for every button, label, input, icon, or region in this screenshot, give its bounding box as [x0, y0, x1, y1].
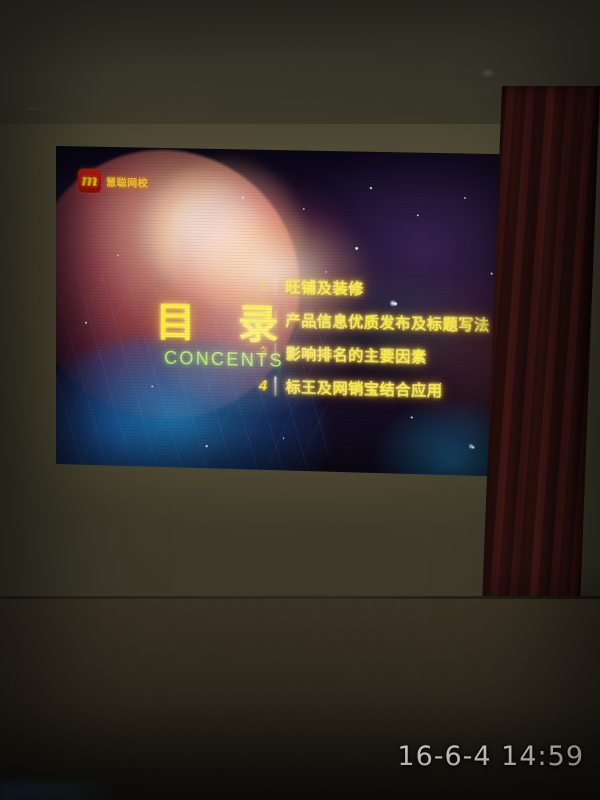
agenda-item-divider — [274, 277, 276, 296]
agenda-item: 4 标王及网销宝结合应用 — [253, 372, 508, 406]
agenda-item: 2 产品信息优质发布及标题写法 — [253, 306, 508, 339]
ceiling-vent-icon — [480, 68, 496, 78]
logo-brand-text: 慧聪网校 — [106, 173, 148, 189]
agenda-item: 3 影响排名的主要因素 — [253, 339, 508, 373]
slide-background: m 慧聪网校 目 录 CONCENTS 1 旺铺及装修 2 产品信息 — [56, 146, 517, 477]
ceiling-mark — [20, 108, 46, 116]
agenda-item-label: 标王及网销宝结合应用 — [286, 376, 509, 403]
projection-screen: m 慧聪网校 目 录 CONCENTS 1 旺铺及装修 2 产品信息 — [56, 146, 517, 477]
agenda-item-divider — [274, 377, 276, 396]
wall-floor-seam — [0, 596, 600, 599]
bright-star-icon-2 — [468, 443, 474, 449]
agenda-item: 1 旺铺及装修 — [253, 272, 508, 305]
photo-scene: m 慧聪网校 目 录 CONCENTS 1 旺铺及装修 2 产品信息 — [0, 0, 600, 800]
brand-logo: m 慧聪网校 — [78, 168, 148, 193]
agenda-item-number: 2 — [253, 311, 267, 328]
agenda-item-label: 产品信息优质发布及标题写法 — [286, 309, 509, 335]
agenda-item-number: 3 — [253, 344, 267, 361]
agenda-item-number: 1 — [253, 277, 267, 294]
agenda-item-divider — [274, 343, 276, 362]
agenda-item-label: 旺铺及装修 — [286, 276, 509, 302]
logo-badge: m — [78, 168, 101, 192]
agenda-item-label: 影响排名的主要因素 — [286, 343, 509, 370]
logo-m-icon: m — [81, 172, 98, 188]
agenda-item-number: 4 — [253, 377, 267, 394]
agenda-list: 1 旺铺及装修 2 产品信息优质发布及标题写法 3 影响排名的主要因素 4 — [253, 272, 508, 411]
agenda-item-divider — [274, 310, 276, 329]
camera-timestamp: 16-6-4 14:59 — [397, 741, 584, 772]
